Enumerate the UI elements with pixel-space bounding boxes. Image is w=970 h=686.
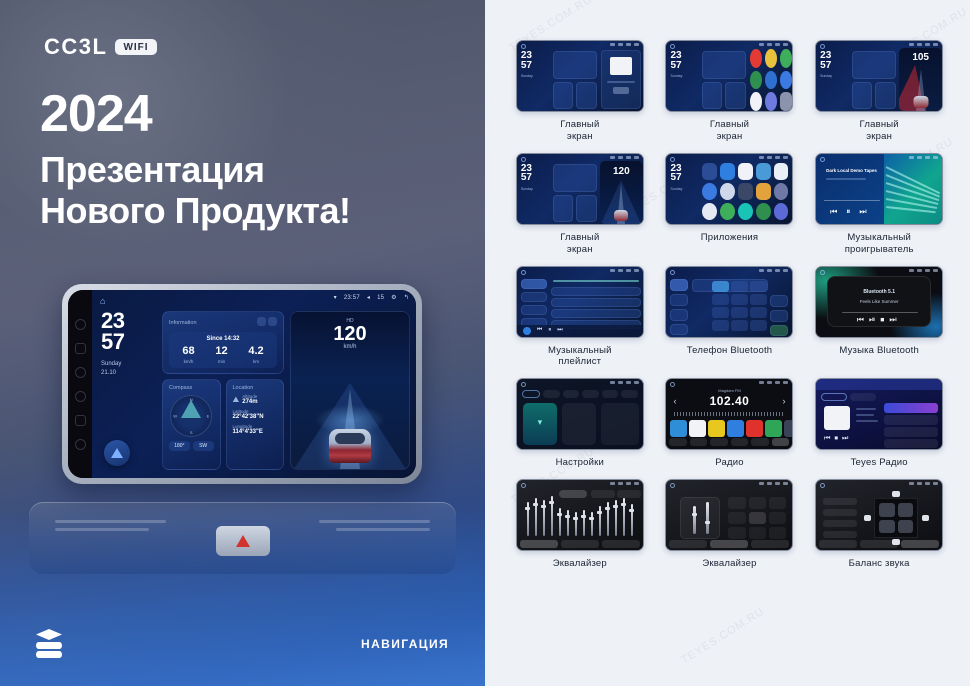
navigation-fab[interactable] <box>104 440 130 466</box>
thumbnail-equalizer-presets[interactable] <box>665 479 793 551</box>
wifi-badge: WIFI <box>115 39 156 55</box>
compass-direction: SW <box>193 441 214 451</box>
gallery-item[interactable]: 2357Sunday 120 Главныйэкран <box>511 153 649 256</box>
speed-readout: 120 km/h <box>291 324 409 350</box>
power-button[interactable] <box>75 319 86 330</box>
gallery-item[interactable]: Bluetooth 5.1 Feels Like Summer ⏮⏯⏹⏭ Муз… <box>810 266 948 369</box>
thumbnail-radio[interactable]: Magdam FM 102.40 ‹ › <box>665 378 793 450</box>
gallery-item[interactable]: ▾ Настройки <box>511 378 649 469</box>
hero-line-1: Презентация <box>40 149 351 190</box>
thumbnail-apps[interactable]: 2357Sunday <box>665 153 793 225</box>
brand-logo: CC3L WIFI <box>44 34 157 60</box>
tuning-scale[interactable] <box>674 412 784 416</box>
mute-button[interactable] <box>75 415 86 426</box>
thumbnail-home-apps[interactable]: 2357Sunday <box>665 40 793 112</box>
screenshot-gallery: TEYES.COM.RU TEYES.COM.RU TEYES.COM.RU T… <box>485 0 970 686</box>
gallery-item[interactable]: Эквалайзер <box>511 479 649 570</box>
previous-icon: ⏮ <box>537 327 542 334</box>
altitude-value: 274m <box>242 399 257 405</box>
gallery-grid: 2357Sunday Главныйэкран 2357Sund <box>511 40 948 570</box>
clock-date: 21.10 <box>101 369 156 377</box>
wifi-card[interactable]: ▾ <box>523 403 557 445</box>
hero-line-2: Нового Продукта! <box>40 190 351 231</box>
speed-unit: km/h <box>291 344 409 350</box>
compass-bearing: 180° <box>169 441 190 451</box>
trip-stats: 68 km/h 12 min <box>172 346 274 364</box>
hazard-button[interactable] <box>216 526 270 556</box>
compass-s: S <box>190 430 193 435</box>
gallery-item[interactable]: 2357Sunday Главныйэкран <box>511 40 649 143</box>
status-clock: 23:57 <box>344 295 360 301</box>
gallery-item[interactable]: Баланс звука <box>810 479 948 570</box>
stat-distance-value: 4.2 <box>248 346 263 357</box>
home-icon[interactable]: ⌂ <box>100 296 105 306</box>
front-button[interactable] <box>892 491 900 497</box>
gallery-item[interactable]: 2357Sunday Главныйэкран <box>661 40 799 143</box>
next-station-icon[interactable]: › <box>782 396 785 406</box>
next-icon: ⏭ <box>859 207 866 217</box>
compass-e: E <box>207 414 210 419</box>
thumbnail-music-player[interactable]: Dark Local Demo Tapes ⏮⏸⏭ <box>815 153 943 225</box>
compass-title: Compass <box>169 385 192 391</box>
since-label: Since 14:32 <box>172 336 274 342</box>
right-button[interactable] <box>922 515 929 521</box>
gear-icon[interactable]: ⚙ <box>391 294 397 301</box>
previous-icon: ⏮ <box>830 207 837 217</box>
wifi-icon: ▾ <box>538 417 543 428</box>
menu-button[interactable] <box>75 343 86 354</box>
widget-column: Information Since 14:32 <box>162 311 284 470</box>
caption: Главныйэкран <box>560 119 599 143</box>
volume-icon: ◂ <box>367 294 370 301</box>
hazard-triangle-icon <box>236 535 250 547</box>
back-arrow-icon[interactable]: ↰ <box>404 294 409 301</box>
radio-frequency: 102.40 <box>666 394 792 408</box>
station-row-active[interactable] <box>884 403 938 413</box>
home-icon <box>521 44 526 49</box>
carplay-card[interactable] <box>562 403 596 445</box>
bt-track: Feels Like Summer <box>816 299 942 304</box>
latitude-value: 22°42'38"N <box>233 414 278 420</box>
status-bar: ▾ 23:57 ◂ 15 ⚙ ↰ <box>334 294 409 301</box>
volume-level: 15 <box>377 295 384 301</box>
head-unit-screen[interactable]: ⌂ ▾ 23:57 ◂ 15 ⚙ ↰ 23 <box>68 290 416 478</box>
thumbnail-sound-balance[interactable] <box>815 479 943 551</box>
caption: Баланс звука <box>849 558 910 570</box>
thumbnail-bt-phone[interactable] <box>665 266 793 338</box>
caption: Эквалайзер <box>702 558 756 570</box>
head-unit-bezel: ⌂ ▾ 23:57 ◂ 15 ⚙ ↰ 23 <box>62 284 422 484</box>
hero-footer: НАВИГАЦИЯ <box>0 629 485 658</box>
thumbnail-equalizer-bands[interactable] <box>516 479 644 551</box>
station-presets[interactable] <box>670 420 793 437</box>
speed-value: 105 <box>899 52 942 63</box>
waveform-art <box>884 154 942 224</box>
track-title: Dark Local Demo Tapes <box>826 168 877 173</box>
station-row[interactable] <box>884 427 938 437</box>
station-row[interactable] <box>884 439 938 448</box>
next-icon: ⏭ <box>557 327 562 334</box>
player-controls[interactable]: ⏮⏸⏭ <box>830 207 866 217</box>
refresh-icon[interactable] <box>257 317 266 326</box>
brand-name: CC3L <box>44 34 107 60</box>
stat-speed-unit: km/h <box>182 359 194 364</box>
location-title: Location <box>233 385 254 391</box>
navigation-arrow-icon <box>111 448 123 458</box>
head-unit-content: ⌂ ▾ 23:57 ◂ 15 ⚙ ↰ 23 <box>92 290 416 478</box>
thumbnail-bt-music[interactable]: Bluetooth 5.1 Feels Like Summer ⏮⏯⏹⏭ <box>815 266 943 338</box>
caption: Главныйэкран <box>860 119 899 143</box>
gallery-item[interactable]: Magdam FM 102.40 ‹ › Радио <box>661 378 799 469</box>
layers-icon <box>36 629 62 658</box>
car-dashboard-illustration: ⌂ ▾ 23:57 ◂ 15 ⚙ ↰ 23 <box>0 250 485 686</box>
stat-item: 68 km/h <box>182 346 194 364</box>
balance-pad[interactable] <box>874 498 918 538</box>
compass-cone <box>181 400 201 418</box>
stat-time-unit: min <box>215 359 227 364</box>
compass-dial: N W E S <box>170 395 212 437</box>
more-card[interactable] <box>601 403 639 445</box>
pause-icon: ⏸ <box>846 207 850 217</box>
speed-value: 120 <box>600 166 643 177</box>
fader-panel[interactable] <box>680 497 720 539</box>
caption: Главныйэкран <box>710 119 749 143</box>
caption: Музыкальныйплейлист <box>548 345 612 369</box>
pause-icon: ⏸ <box>548 327 551 334</box>
footer-label: НАВИГАЦИЯ <box>361 637 449 651</box>
volume-down-button[interactable] <box>75 391 86 402</box>
caption: Настройки <box>556 457 604 469</box>
thumbnail-home-speed-red[interactable]: 2357Sunday 105 <box>815 40 943 112</box>
location-widget[interactable]: Location ⛰ Altitude 274m <box>226 379 285 470</box>
caption: Музыка Bluetooth <box>839 345 919 357</box>
bt-player-controls[interactable]: ⏮⏯⏹⏭ <box>816 315 942 325</box>
compass-widget[interactable]: Compass N W E S <box>162 379 221 470</box>
compass-w: W <box>173 414 177 419</box>
caption: Приложения <box>701 232 759 244</box>
dial-keypad[interactable] <box>712 281 767 331</box>
album-art <box>523 327 531 335</box>
stat-item: 12 min <box>215 346 227 364</box>
gallery-item[interactable]: Телефон Bluetooth <box>661 266 799 369</box>
stat-item: 4.2 km <box>248 346 263 364</box>
left-button[interactable] <box>864 515 871 521</box>
clock-minutes: 57 <box>101 332 156 353</box>
compass-n: N <box>190 397 193 402</box>
top-tabs[interactable] <box>816 379 942 390</box>
clock-day: Sunday <box>101 360 156 368</box>
thumbnail-home-music[interactable]: 2357Sunday <box>516 40 644 112</box>
preset-selector[interactable] <box>559 490 587 498</box>
app-grid[interactable] <box>702 163 788 220</box>
caption: Радио <box>715 457 743 469</box>
expand-icon[interactable] <box>268 317 277 326</box>
vehicle-model <box>329 429 371 463</box>
gallery-item[interactable]: Эквалайзер <box>661 479 799 570</box>
stat-speed-value: 68 <box>182 346 194 357</box>
caption: Teyes Радио <box>851 457 908 469</box>
caption: Музыкальныйпроигрыватель <box>845 232 914 256</box>
bt-version: Bluetooth 5.1 <box>816 289 942 295</box>
stat-distance-unit: km <box>248 359 263 364</box>
gallery-item[interactable]: Dark Local Demo Tapes ⏮⏸⏭ Музыкальныйпро… <box>810 153 948 256</box>
gallery-item[interactable]: 2357Sunday Приложения <box>661 153 799 256</box>
stat-time-value: 12 <box>215 346 227 357</box>
album-art <box>824 406 850 430</box>
caption: Телефон Bluetooth <box>687 345 773 357</box>
player-controls[interactable]: ⏮⏹⏭ <box>824 435 852 443</box>
mountain-icon: ⛰ <box>233 395 240 405</box>
wifi-icon: ▾ <box>334 294 337 301</box>
page-title: 2024 Презентация Нового Продукта! <box>40 88 351 231</box>
navigation-widget[interactable]: HD 120 km/h <box>290 311 410 470</box>
caption: Главныйэкран <box>560 232 599 256</box>
hero-year: 2024 <box>40 88 351 140</box>
volume-up-button[interactable] <box>75 367 86 378</box>
information-title: Information <box>169 320 197 326</box>
gallery-item[interactable]: ⏮⏹⏭ Teyes Радио <box>810 378 948 469</box>
thumbnail-home-speed-blue[interactable]: 2357Sunday 120 <box>516 153 644 225</box>
station-row[interactable] <box>884 415 938 425</box>
thumbnail-settings[interactable]: ▾ <box>516 378 644 450</box>
information-widget[interactable]: Information Since 14:32 <box>162 311 284 374</box>
preset-buttons[interactable] <box>728 497 786 539</box>
prev-station-icon[interactable]: ‹ <box>673 396 676 406</box>
presentation-slide: CC3L WIFI 2024 Презентация Нового Продук… <box>0 0 970 686</box>
gallery-item[interactable]: ⏮⏸⏭ Музыкальныйплейлист <box>511 266 649 369</box>
thumbnail-playlist[interactable]: ⏮⏸⏭ <box>516 266 644 338</box>
settings-tabs[interactable] <box>522 390 638 398</box>
home-rail-button[interactable] <box>75 439 86 450</box>
thumbnail-teyes-radio[interactable]: ⏮⏹⏭ <box>815 378 943 450</box>
radio-band: Magdam FM <box>666 388 792 393</box>
hero-panel: CC3L WIFI 2024 Презентация Нового Продук… <box>0 0 485 686</box>
speed-value: 120 <box>291 324 409 344</box>
longitude-value: 114°4'33"E <box>233 429 278 435</box>
caption: Эквалайзер <box>553 558 607 570</box>
gallery-item[interactable]: 2357Sunday 105 Главныйэкран <box>810 40 948 143</box>
side-button-rail[interactable] <box>68 290 92 478</box>
